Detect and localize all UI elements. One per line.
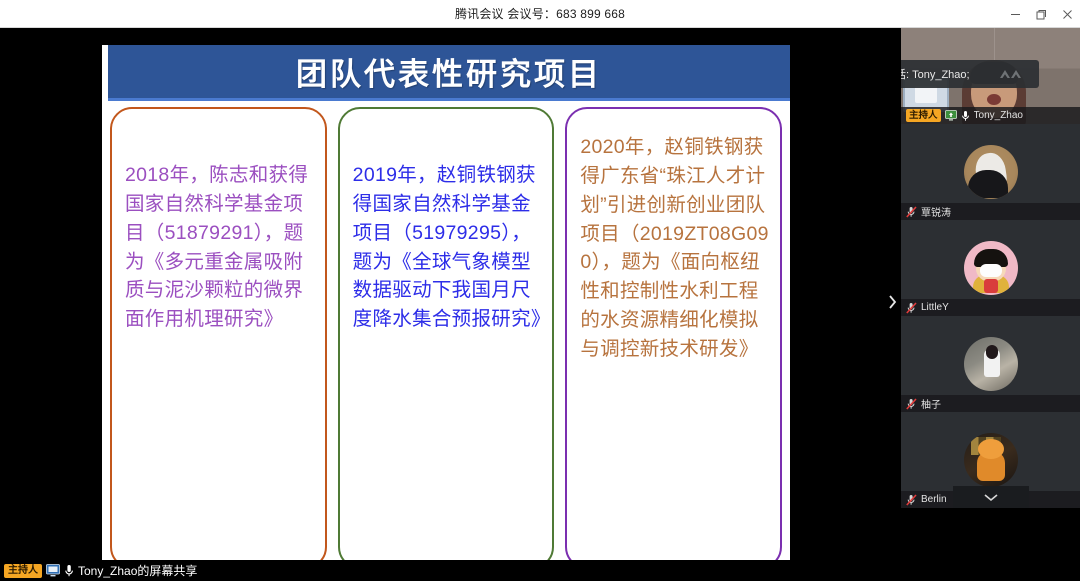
meeting-logo-icon xyxy=(999,67,1025,81)
shared-screen-stage: 团队代表性研究项目 2018年，陈志和获得国家自然科学基金项目（51879291… xyxy=(0,28,898,560)
avatar-cat-head xyxy=(978,439,1004,459)
close-button[interactable] xyxy=(1054,0,1080,28)
mic-on-icon xyxy=(961,110,970,122)
host-badge: 主持人 xyxy=(906,109,941,122)
participant-name-bar: 覃锐涛 xyxy=(901,203,1080,220)
slide-banner-accent xyxy=(108,98,790,101)
meeting-title: 腾讯会议 会议号：683 899 668 xyxy=(455,5,625,22)
project-card-1: 2018年，陈志和获得国家自然科学基金项目（51879291），题为《多元重金属… xyxy=(110,107,327,560)
participant-tile-littley[interactable]: LittleY xyxy=(901,220,1080,316)
chevron-right-icon xyxy=(888,295,897,309)
window-controls xyxy=(1002,0,1080,28)
share-status-text: Tony_Zhao的屏幕共享 xyxy=(78,562,197,579)
restore-icon xyxy=(1036,9,1047,20)
participant-tile-qin[interactable]: 覃锐涛 xyxy=(901,124,1080,220)
participant-name: 覃锐涛 xyxy=(921,204,951,219)
screen-share-status-bar: 主持人 Tony_Zhao的屏幕共享 xyxy=(0,560,1080,581)
mic-muted-icon xyxy=(906,398,917,410)
meeting-window: 腾讯会议 会议号：683 899 668 xyxy=(0,0,1080,581)
project-card-3: 2020年，赵铜铁钢获得广东省“珠江人才计划”引进创新创业团队项目（2019ZT… xyxy=(565,107,782,560)
participant-tile-tony-zhao[interactable]: 正在讲话: Tony_Zhao; 主持人 xyxy=(901,28,1080,124)
avatar xyxy=(964,145,1018,199)
participant-tile-youzi[interactable]: 柚子 xyxy=(901,316,1080,412)
participant-name-bar: 柚子 xyxy=(901,395,1080,412)
mic-muted-icon xyxy=(906,302,917,314)
avatar-mask xyxy=(980,264,1002,277)
minimize-button[interactable] xyxy=(1002,0,1028,28)
project-card-2-text: 2019年，赵铜铁钢获得国家自然科学基金项目（51979295），题为《全球气象… xyxy=(353,161,543,334)
more-participants-button[interactable] xyxy=(953,486,1029,508)
mic-muted-icon xyxy=(906,494,917,506)
participant-name: Tony_Zhao xyxy=(974,110,1023,121)
participant-name-bar: 主持人 Tony_Zhao xyxy=(901,107,1080,124)
restore-button[interactable] xyxy=(1028,0,1054,28)
chevron-down-icon xyxy=(984,493,998,502)
participant-name-bar: LittleY xyxy=(901,299,1080,316)
project-card-3-text: 2020年，赵铜铁钢获得广东省“珠江人才计划”引进创新创业团队项目（2019ZT… xyxy=(580,133,770,364)
minimize-icon xyxy=(1010,9,1021,20)
participant-name: 柚子 xyxy=(921,396,941,411)
avatar xyxy=(964,337,1018,391)
speaker-mouth xyxy=(987,94,1001,105)
speaking-toast-text: 正在讲话: Tony_Zhao; xyxy=(901,66,970,82)
screen-share-icon xyxy=(945,110,957,121)
participant-name: LittleY xyxy=(921,302,949,313)
slide-title-banner: 团队代表性研究项目 xyxy=(108,45,790,98)
slide-title: 团队代表性研究项目 xyxy=(296,49,602,94)
mic-on-icon xyxy=(64,564,74,578)
project-card-2: 2019年，赵铜铁钢获得国家自然科学基金项目（51979295），题为《全球气象… xyxy=(338,107,555,560)
speaking-toast: 正在讲话: Tony_Zhao; xyxy=(901,60,1039,88)
presentation-slide: 团队代表性研究项目 2018年，陈志和获得国家自然科学基金项目（51879291… xyxy=(102,45,790,560)
participant-name: Berlin xyxy=(921,494,947,505)
monitor-icon xyxy=(46,564,60,577)
host-badge: 主持人 xyxy=(4,564,42,578)
participant-tile-berlin[interactable]: Berlin xyxy=(901,412,1080,508)
avatar xyxy=(964,433,1018,487)
project-cards: 2018年，陈志和获得国家自然科学基金项目（51879291），题为《多元重金属… xyxy=(110,107,782,560)
collapse-panel-button[interactable] xyxy=(884,290,900,314)
mic-muted-icon xyxy=(906,206,917,218)
title-bar: 腾讯会议 会议号：683 899 668 xyxy=(0,0,1080,28)
participants-panel: 正在讲话: Tony_Zhao; 主持人 xyxy=(901,28,1080,560)
avatar-hair xyxy=(986,345,998,359)
avatar xyxy=(964,241,1018,295)
avatar-shirt xyxy=(984,279,998,293)
close-icon xyxy=(1062,9,1073,20)
project-card-1-text: 2018年，陈志和获得国家自然科学基金项目（51879291），题为《多元重金属… xyxy=(125,161,315,334)
